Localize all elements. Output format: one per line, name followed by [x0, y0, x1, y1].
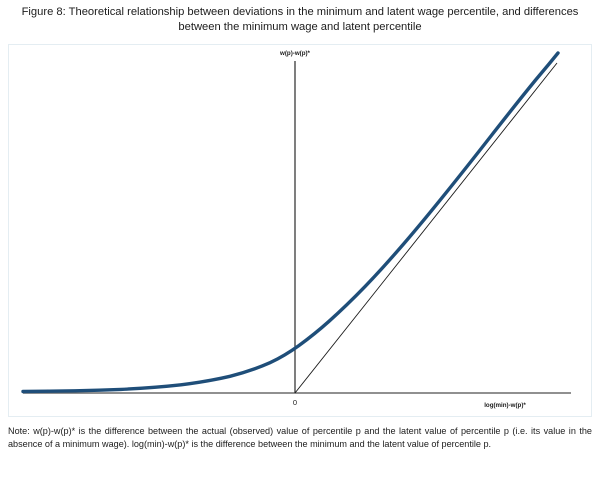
theoretical-relationship-curve — [23, 53, 558, 392]
y-axis-label: w(p)-w(p)* — [279, 50, 310, 57]
figure-title: Figure 8: Theoretical relationship betwe… — [20, 0, 580, 35]
reference-line-45deg — [295, 63, 557, 393]
x-axis-label: log(min)-w(p)* — [484, 402, 526, 409]
figure-container: Figure 8: Theoretical relationship betwe… — [0, 0, 600, 484]
plot-area: w(p)-w(p)* log(min)-w(p)* 0 — [8, 44, 592, 417]
figure-note: Note: w(p)-w(p)* is the difference betwe… — [8, 425, 592, 450]
chart-svg: w(p)-w(p)* log(min)-w(p)* 0 — [9, 45, 591, 416]
origin-tick-label: 0 — [293, 398, 297, 407]
